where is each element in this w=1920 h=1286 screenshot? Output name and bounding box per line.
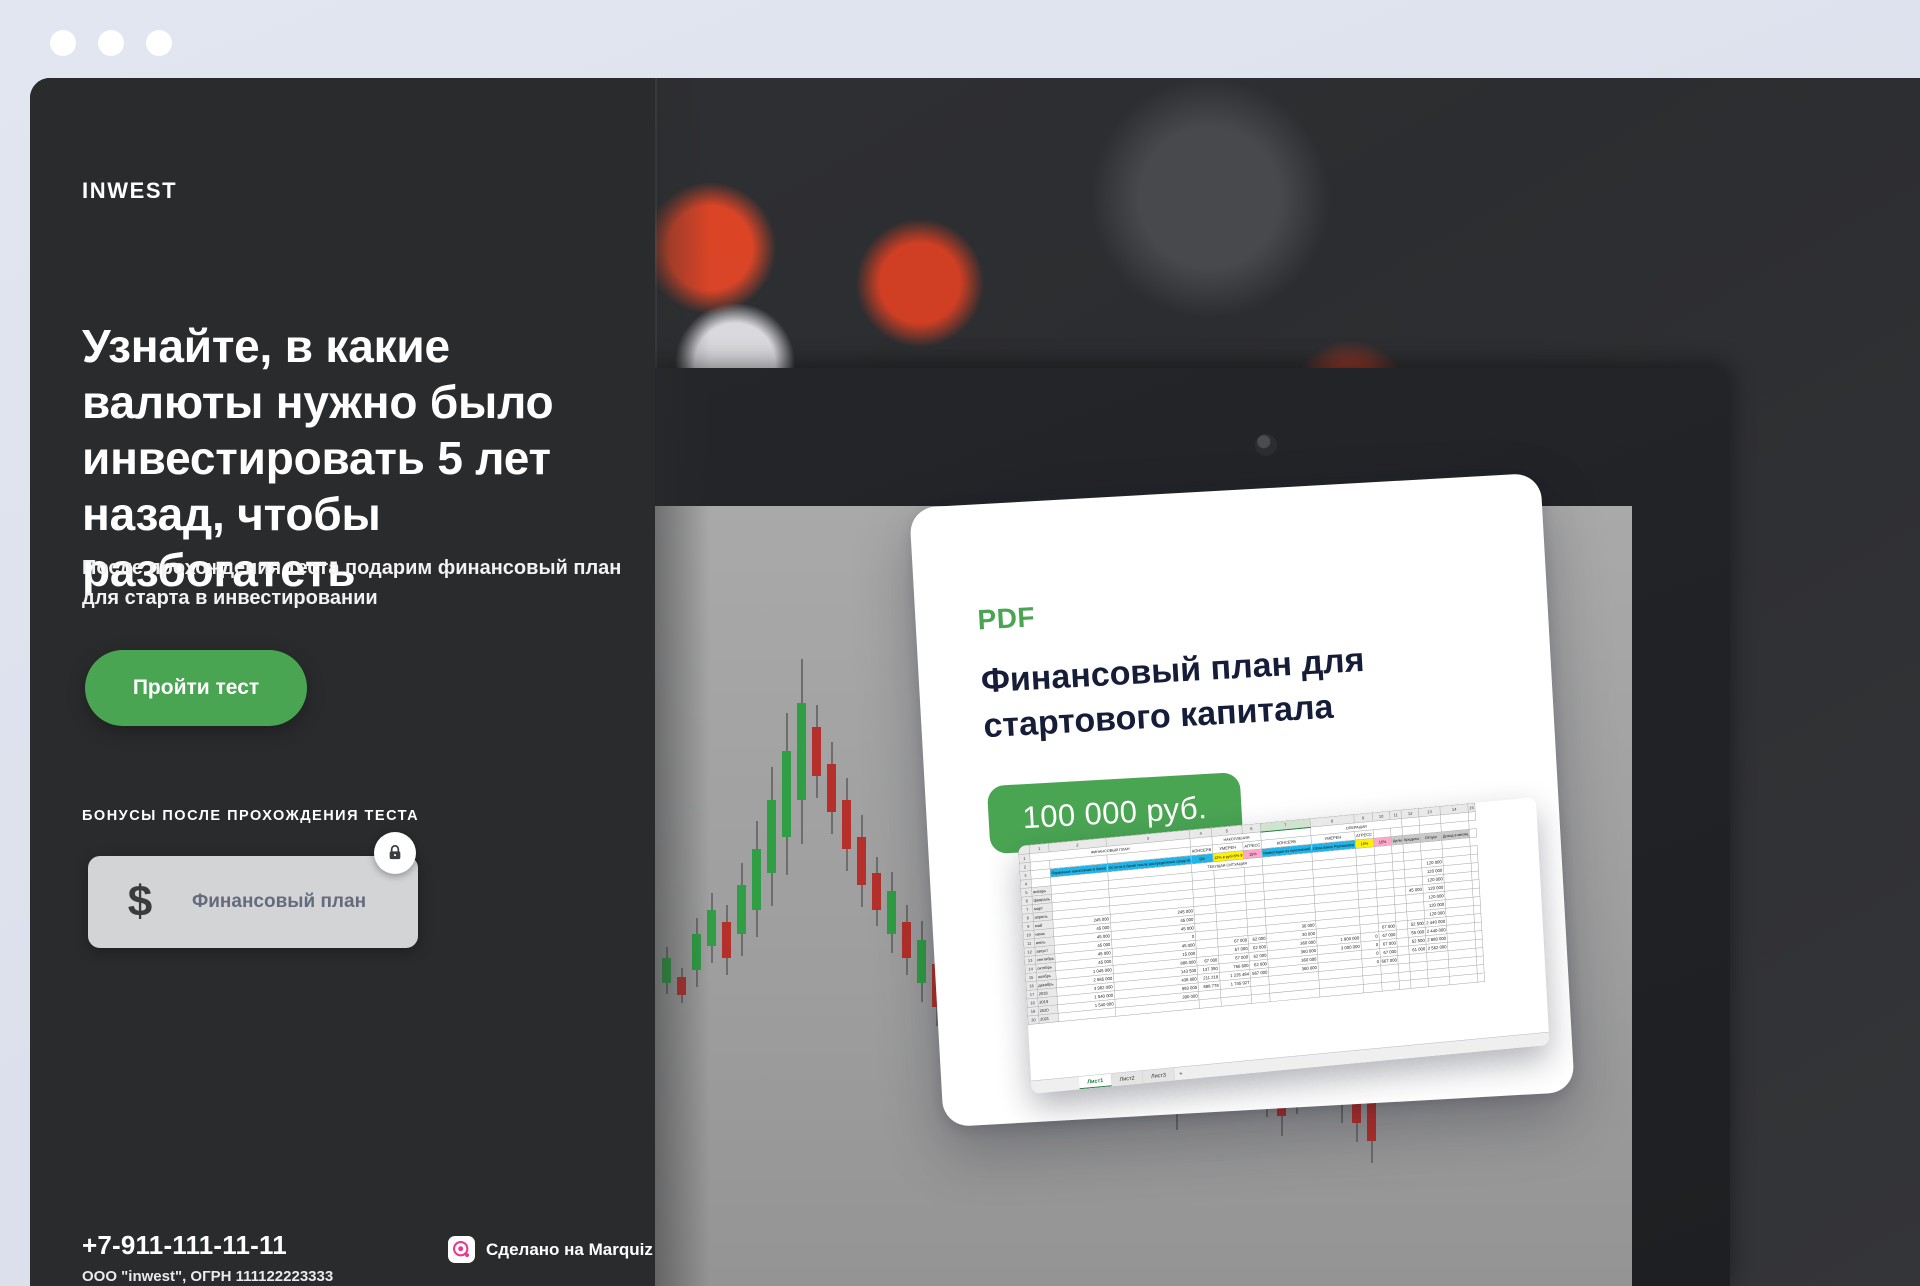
candlestick [722, 922, 731, 959]
candlestick [767, 800, 776, 873]
row-label: 2021 [1039, 1013, 1059, 1023]
candlestick-body [842, 800, 851, 849]
candlestick-body [797, 703, 806, 800]
page-subtitle: После прохождения теста подарим финансов… [82, 553, 622, 613]
dollar-icon: $ [88, 880, 192, 924]
spreadsheet-screenshot[interactable]: 1234567891011121314151ФИНАНСОВЫЙ ПЛАННАК… [1018, 797, 1550, 1094]
row-header: 20 [1028, 1015, 1039, 1025]
candlestick [752, 849, 761, 910]
candlestick-body [737, 885, 746, 934]
bonus-card-financial-plan[interactable]: $ Финансовый план [88, 856, 418, 948]
data-cell[interactable] [1363, 983, 1382, 993]
candlestick [887, 891, 896, 934]
candlestick-body [812, 727, 821, 776]
candlestick-body [752, 849, 761, 910]
data-cell [1477, 973, 1484, 982]
data-cell [1449, 974, 1477, 985]
data-cell[interactable] [1199, 998, 1221, 1009]
data-cell[interactable] [1221, 995, 1252, 1006]
data-cell[interactable] [1381, 981, 1399, 991]
candlestick-body [827, 764, 836, 813]
browser-mock-window: INWEST Узнайте, в какие валюты нужно был… [0, 0, 1920, 1286]
candlestick [827, 764, 836, 813]
candlestick [737, 885, 746, 934]
candlestick-body [872, 873, 881, 910]
page-viewport: INWEST Узнайте, в какие валюты нужно был… [30, 78, 1920, 1286]
data-cell[interactable] [1251, 993, 1270, 1003]
candlestick-body [857, 837, 866, 886]
pdf-format-tag: PDF [977, 601, 1036, 636]
maximize-dot[interactable] [146, 30, 172, 56]
candlestick [782, 751, 791, 836]
data-cell[interactable] [1428, 976, 1450, 987]
sheet-cell [1469, 829, 1476, 838]
marquiz-label: Сделано на Marquiz [486, 1240, 653, 1260]
candlestick [917, 940, 926, 983]
candlestick [872, 873, 881, 910]
add-sheet-icon[interactable]: + [1174, 1067, 1188, 1081]
spacer-cell [1468, 812, 1475, 821]
candlestick [902, 922, 911, 959]
brand-logo[interactable]: INWEST [82, 178, 177, 204]
take-test-button[interactable]: Пройти тест [85, 650, 307, 726]
candlestick-body [722, 922, 731, 959]
data-cell[interactable] [1399, 980, 1411, 990]
data-cell[interactable] [1411, 978, 1429, 988]
candlestick-body [902, 922, 911, 959]
contact-phone[interactable]: +7-911-111-11-11 [82, 1230, 287, 1261]
candlestick-body [887, 891, 896, 934]
hero-panel-gradient [590, 78, 710, 1286]
candlestick-body [917, 940, 926, 983]
bonus-card-label: Финансовый план [192, 891, 366, 913]
candlestick [797, 703, 806, 800]
pdf-card-title: Финансовый план для стартового капитала [980, 630, 1504, 749]
marquiz-logo-icon [448, 1236, 475, 1263]
window-titlebar [0, 0, 1920, 78]
lock-icon [374, 832, 416, 874]
close-dot[interactable] [50, 30, 76, 56]
photo-webcam [1255, 434, 1277, 456]
candlestick [857, 837, 866, 886]
candlestick [812, 727, 821, 776]
candlestick-body [767, 800, 776, 873]
spreadsheet-canvas: 1234567891011121314151ФИНАНСОВЫЙ ПЛАННАК… [1018, 797, 1550, 1094]
minimize-dot[interactable] [98, 30, 124, 56]
candlestick [842, 800, 851, 849]
bonus-section-label: БОНУСЫ ПОСЛЕ ПРОХОЖДЕНИЯ ТЕСТА [82, 808, 419, 824]
marquiz-attribution[interactable]: Сделано на Marquiz [448, 1236, 653, 1263]
legal-entity-info: ООО "inwest", ОГРН 111122223333 [82, 1268, 333, 1285]
candlestick-body [782, 751, 791, 836]
